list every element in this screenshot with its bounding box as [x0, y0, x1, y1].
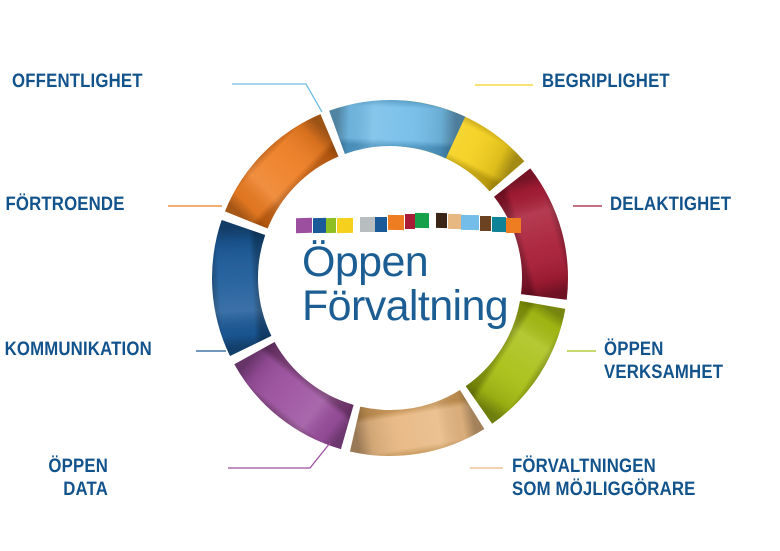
color-bar-segment — [506, 218, 521, 233]
wheel-label-oppen-verksamhet[interactable]: ÖPPEN VERKSAMHET — [604, 338, 723, 384]
color-bar-segment — [313, 218, 326, 233]
wheel-segment-forvaltningen-som-mojliggorare[interactable] — [350, 390, 484, 456]
segment-shading — [212, 220, 271, 356]
color-bar-segment — [480, 216, 491, 231]
color-bar-segment — [296, 217, 312, 232]
segment-shading — [329, 100, 465, 158]
segment-shading — [350, 390, 484, 456]
wheel-label-delaktighet[interactable]: DELAKTIGHET — [610, 193, 731, 216]
color-bar-segment — [337, 218, 353, 233]
vinnova-color-bar-icon — [296, 208, 492, 234]
color-bar-segment — [492, 217, 506, 232]
connector-line-oppen-data — [228, 443, 330, 468]
segment-shading — [234, 342, 353, 449]
color-bar-segment — [415, 213, 429, 228]
wheel-label-oppen-data[interactable]: ÖPPEN DATA — [15, 455, 108, 501]
wheel-label-begriplighet[interactable]: BEGRIPLIGHET — [542, 70, 670, 93]
connector-line-offentlighet — [232, 84, 322, 112]
color-bar-segment — [388, 215, 404, 230]
color-bar-segment — [436, 213, 447, 228]
wheel-segment-kommunikation[interactable] — [212, 220, 271, 356]
color-bar-segment — [461, 214, 479, 229]
wheel-label-fortroende[interactable]: FÖRTROENDE — [5, 193, 39, 216]
logo-block: Öppen Förvaltning — [296, 208, 496, 338]
logo-wordmark: Öppen Förvaltning — [302, 240, 508, 328]
color-bar-segment — [326, 218, 336, 233]
wheel-label-offentlighet[interactable]: OFFENTLIGHET — [12, 70, 86, 93]
color-bar-segment — [360, 217, 375, 232]
color-bar-segment — [405, 214, 415, 229]
wheel-label-kommunikation[interactable]: KOMMUNIKATION — [5, 338, 33, 361]
color-bar-segment — [448, 214, 461, 229]
open-administration-wheel-infographic: Öppen Förvaltning BEGRIPLIGHETDELAKTIGHE… — [0, 0, 780, 551]
wheel-label-forvaltningen-som-mojliggorare[interactable]: FÖRVALTNINGEN SOM MÖJLIGGÖRARE — [512, 455, 696, 501]
wheel-segment-oppen-data[interactable] — [234, 342, 353, 449]
wheel-segment-offentlighet[interactable] — [329, 100, 465, 158]
color-bar-segment — [375, 217, 387, 232]
